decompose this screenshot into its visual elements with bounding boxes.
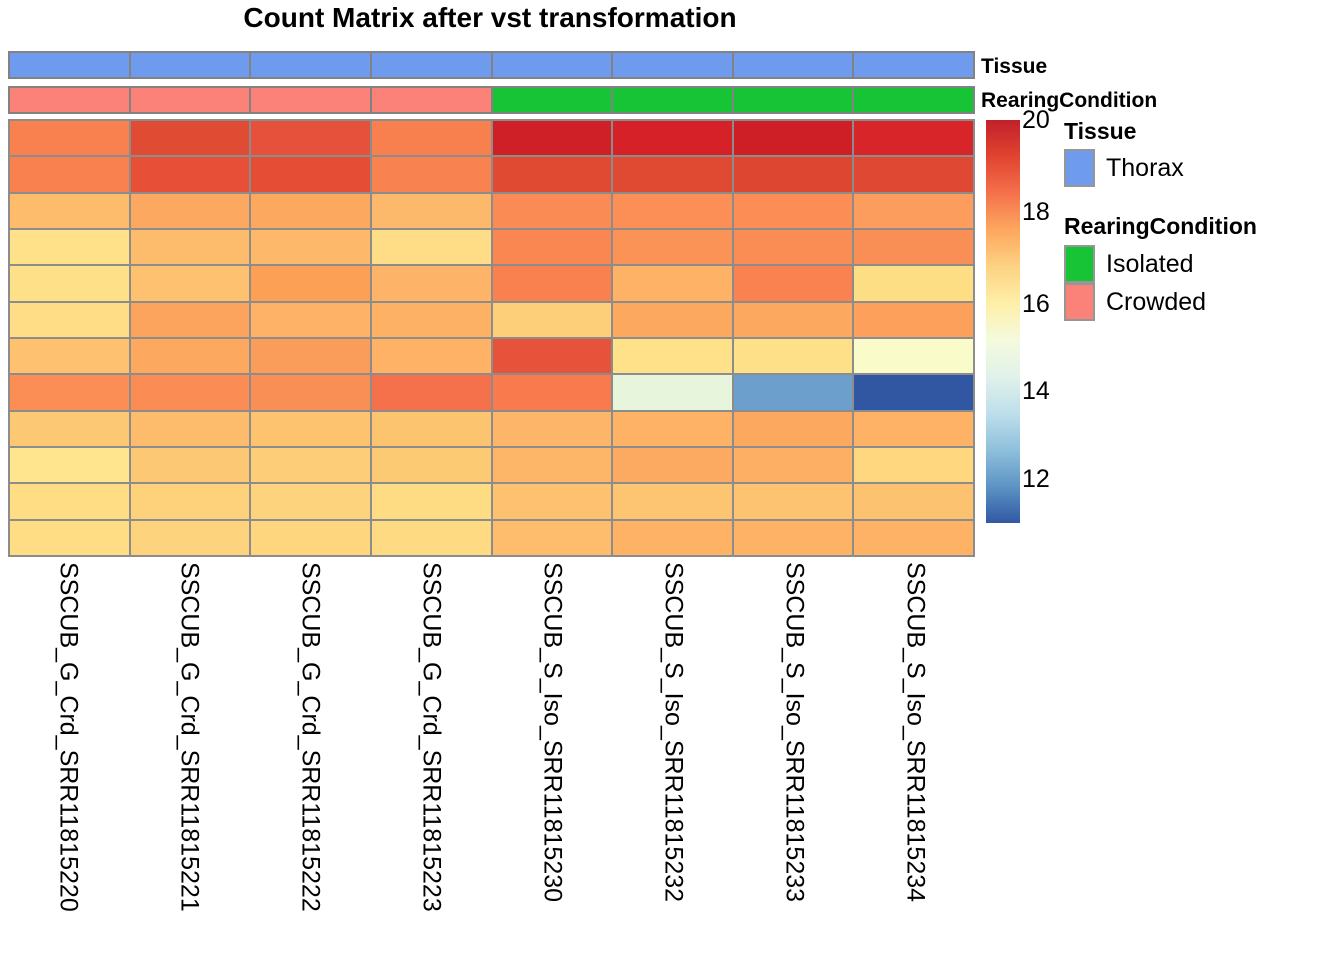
heatmap-cell [493, 230, 614, 264]
annotation-bar-rearing-condition-label: RearingCondition [981, 90, 1157, 111]
colorbar-tick-label: 16 [1022, 292, 1050, 317]
annotation-rearing-cell [10, 88, 131, 112]
heatmap-cell [854, 157, 973, 191]
heatmap-cell [734, 157, 855, 191]
heatmap-cell [734, 375, 855, 409]
heatmap-cell [372, 230, 493, 264]
heatmap-cell [131, 157, 252, 191]
heatmap-cell [131, 194, 252, 228]
heatmap-column-label-text: SSCUB_G_Crd_SRR11815222 [298, 562, 323, 912]
heatmap-cell [131, 484, 252, 518]
heatmap-cell [613, 303, 734, 337]
annotation-tissue-cell [854, 53, 973, 77]
heatmap-cell [131, 448, 252, 482]
heatmap-column-label-text: SSCUB_G_Crd_SRR11815220 [56, 562, 81, 912]
heatmap-cell [613, 484, 734, 518]
heatmap-cell [131, 375, 252, 409]
heatmap-cell [734, 303, 855, 337]
heatmap-cell [251, 412, 372, 446]
heatmap-cell [251, 230, 372, 264]
legend-item-rearing-swatch [1064, 245, 1095, 283]
heatmap-column-label-text: SSCUB_S_Iso_SRR11815234 [902, 562, 927, 902]
heatmap-row [10, 157, 973, 193]
heatmap-cell [10, 121, 131, 155]
heatmap-column-label-text: SSCUB_G_Crd_SRR11815223 [419, 562, 444, 912]
heatmap-cell [734, 521, 855, 555]
legend-item-rearing-label: Isolated [1106, 252, 1194, 277]
heatmap-cell [854, 266, 973, 300]
legend-item-tissue-label: Thorax [1106, 156, 1184, 181]
heatmap-cell [372, 157, 493, 191]
heatmap-cell [251, 303, 372, 337]
annotation-bar-tissue-label: Tissue [981, 56, 1047, 77]
annotation-tissue-cell [613, 53, 734, 77]
heatmap-cell [10, 412, 131, 446]
heatmap-cell [854, 230, 973, 264]
legend-item-rearing-swatch [1064, 283, 1095, 321]
heatmap-row [10, 194, 973, 230]
heatmap-cell [131, 521, 252, 555]
heatmap-cell [854, 412, 973, 446]
heatmap-cell [613, 157, 734, 191]
heatmap-cell [854, 375, 973, 409]
heatmap-cell [372, 448, 493, 482]
heatmap-cell [493, 194, 614, 228]
heatmap-cell [10, 339, 131, 373]
heatmap-row [10, 448, 973, 484]
heatmap-cell [251, 521, 372, 555]
heatmap-cell [251, 194, 372, 228]
heatmap-column-label: SSCUB_S_Iso_SRR11815232 [612, 560, 733, 955]
heatmap-cell [251, 157, 372, 191]
heatmap-column-label-text: SSCUB_S_Iso_SRR11815233 [781, 562, 806, 902]
heatmap-cell [131, 339, 252, 373]
annotation-tissue-cell [10, 53, 131, 77]
heatmap-cell [613, 339, 734, 373]
heatmap-cell [613, 230, 734, 264]
heatmap-cell [613, 266, 734, 300]
colorbar-tick-label: 14 [1022, 379, 1050, 404]
heatmap-column-label: SSCUB_G_Crd_SRR11815223 [371, 560, 492, 955]
heatmap-row [10, 266, 973, 302]
heatmap-cell [493, 521, 614, 555]
heatmap-cell [10, 521, 131, 555]
colorbar-tick-label: 12 [1022, 467, 1050, 492]
colorbar [986, 120, 1020, 523]
heatmap-column-label-text: SSCUB_G_Crd_SRR11815221 [177, 562, 202, 912]
heatmap-cell [493, 339, 614, 373]
annotation-tissue-cell [493, 53, 614, 77]
heatmap-cell [613, 412, 734, 446]
heatmap-cell [734, 266, 855, 300]
annotation-tissue-cell [131, 53, 252, 77]
heatmap-row [10, 303, 973, 339]
heatmap-row [10, 230, 973, 266]
heatmap-cell [10, 303, 131, 337]
colorbar-gradient [986, 120, 1020, 523]
annotation-bar-tissue [8, 51, 975, 79]
annotation-rearing-cell [251, 88, 372, 112]
heatmap-cell [613, 448, 734, 482]
heatmap-cell [854, 521, 973, 555]
heatmap-cell [10, 266, 131, 300]
heatmap-cell [854, 121, 973, 155]
heatmap-cell [372, 303, 493, 337]
heatmap-cell [734, 194, 855, 228]
heatmap-cell [372, 412, 493, 446]
annotation-rearing-cell [854, 88, 973, 112]
heatmap-cell [493, 303, 614, 337]
heatmap-column-label: SSCUB_G_Crd_SRR11815220 [8, 560, 129, 955]
heatmap-cell [613, 521, 734, 555]
annotation-rearing-cell [734, 88, 855, 112]
annotation-bar-rearing-condition [8, 86, 975, 114]
heatmap-cell [734, 339, 855, 373]
annotation-rearing-cell [372, 88, 493, 112]
legend-title-rearing-condition: RearingCondition [1064, 215, 1257, 238]
heatmap-cell [372, 484, 493, 518]
heatmap-column-labels: SSCUB_G_Crd_SRR11815220SSCUB_G_Crd_SRR11… [8, 560, 975, 955]
heatmap-cell [131, 266, 252, 300]
heatmap-column-label: SSCUB_S_Iso_SRR11815230 [492, 560, 613, 955]
heatmap-cell [734, 121, 855, 155]
heatmap-cell [131, 230, 252, 264]
heatmap-cell [131, 121, 252, 155]
heatmap-cell [734, 484, 855, 518]
heatmap-cell [251, 448, 372, 482]
heatmap-grid [8, 119, 975, 557]
heatmap-column-label-text: SSCUB_S_Iso_SRR11815232 [660, 562, 685, 902]
heatmap-cell [734, 412, 855, 446]
heatmap-cell [613, 375, 734, 409]
heatmap-cell [493, 375, 614, 409]
heatmap-row [10, 339, 973, 375]
heatmap-cell [10, 375, 131, 409]
heatmap-cell [251, 484, 372, 518]
heatmap-column-label: SSCUB_G_Crd_SRR11815221 [129, 560, 250, 955]
page-title: Count Matrix after vst transformation [0, 2, 980, 34]
heatmap-cell [10, 230, 131, 264]
heatmap-cell [10, 448, 131, 482]
heatmap-cell [251, 121, 372, 155]
heatmap-cell [493, 412, 614, 446]
heatmap-cell [734, 230, 855, 264]
legend-item-tissue-swatch [1064, 149, 1095, 187]
heatmap-cell [372, 121, 493, 155]
heatmap-cell [613, 121, 734, 155]
heatmap-cell [10, 157, 131, 191]
heatmap-cell [854, 194, 973, 228]
heatmap-column-label: SSCUB_S_Iso_SRR11815233 [733, 560, 854, 955]
heatmap-cell [493, 448, 614, 482]
heatmap-cell [131, 303, 252, 337]
heatmap-cell [251, 266, 372, 300]
legend-title-tissue: Tissue [1064, 120, 1136, 143]
annotation-tissue-cell [251, 53, 372, 77]
heatmap-cell [372, 339, 493, 373]
legend-item-rearing-label: Crowded [1106, 290, 1206, 315]
heatmap-column-label: SSCUB_G_Crd_SRR11815222 [250, 560, 371, 955]
heatmap-column-label: SSCUB_S_Iso_SRR11815234 [854, 560, 975, 955]
heatmap-row [10, 521, 973, 555]
annotation-rearing-cell [493, 88, 614, 112]
heatmap-cell [493, 157, 614, 191]
heatmap-cell [734, 448, 855, 482]
heatmap-cell [251, 339, 372, 373]
heatmap-cell [493, 121, 614, 155]
heatmap-cell [10, 194, 131, 228]
annotation-rearing-cell [613, 88, 734, 112]
heatmap-cell [372, 375, 493, 409]
annotation-rearing-cell [131, 88, 252, 112]
heatmap-cell [372, 194, 493, 228]
heatmap-cell [372, 521, 493, 555]
heatmap-cell [493, 484, 614, 518]
annotation-tissue-cell [734, 53, 855, 77]
colorbar-tick-label: 20 [1022, 108, 1050, 133]
heatmap-row [10, 121, 973, 157]
heatmap-cell [10, 484, 131, 518]
heatmap-cell [854, 484, 973, 518]
colorbar-tick-label: 18 [1022, 200, 1050, 225]
heatmap-cell [251, 375, 372, 409]
heatmap-cell [854, 303, 973, 337]
heatmap-row [10, 375, 973, 411]
heatmap-cell [131, 412, 252, 446]
heatmap-cell [372, 266, 493, 300]
heatmap-cell [493, 266, 614, 300]
annotation-tissue-cell [372, 53, 493, 77]
heatmap-cell [854, 448, 973, 482]
heatmap-cell [854, 339, 973, 373]
heatmap-row [10, 484, 973, 520]
heatmap-cell [613, 194, 734, 228]
heatmap-column-label-text: SSCUB_S_Iso_SRR11815230 [539, 562, 564, 902]
heatmap-row [10, 412, 973, 448]
